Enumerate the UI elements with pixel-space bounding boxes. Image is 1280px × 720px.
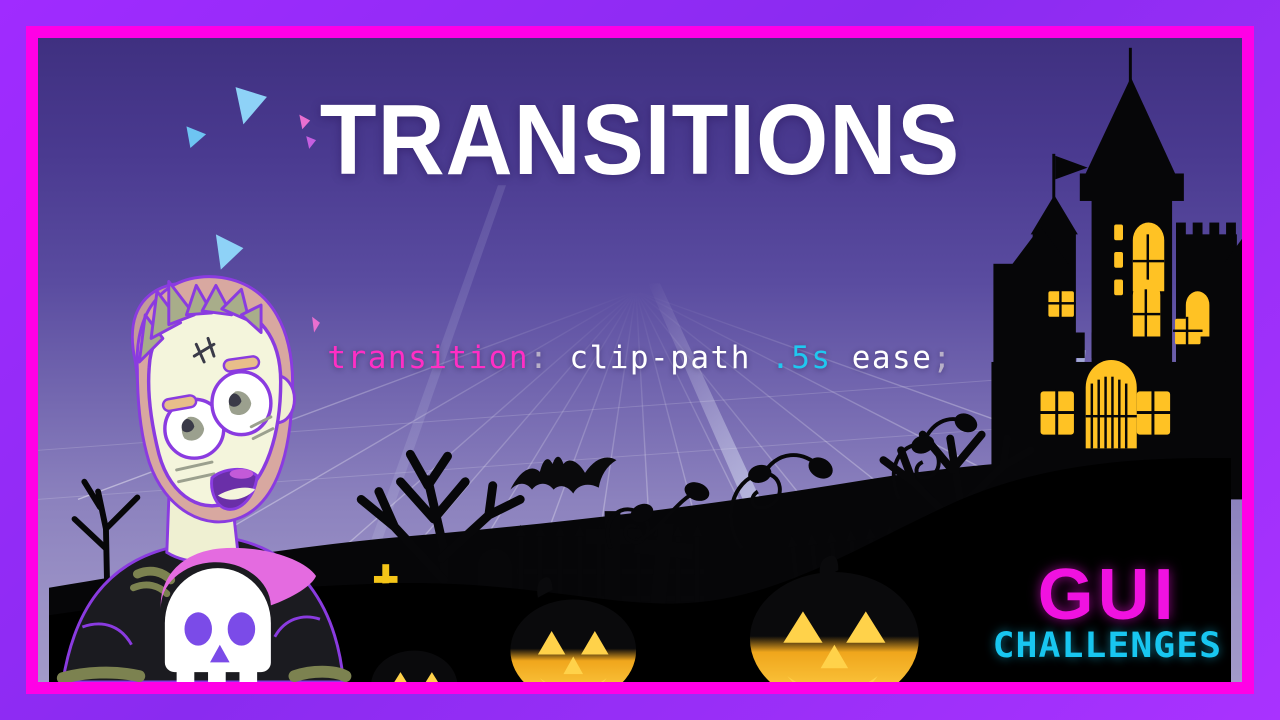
badge-primary-text: GUI bbox=[997, 561, 1218, 629]
halloween-scene: TRANSITIONS transition: clip-path .5s ea… bbox=[38, 38, 1242, 682]
code-snippet: transition: clip-path .5s ease; bbox=[38, 340, 1242, 376]
video-thumbnail: TRANSITIONS transition: clip-path .5s ea… bbox=[0, 0, 1280, 720]
css-property: transition bbox=[327, 340, 529, 376]
css-colon: : bbox=[529, 340, 549, 376]
avatar-head bbox=[132, 277, 294, 522]
css-duration: .5s bbox=[771, 340, 832, 376]
gui-challenges-badge: GUI CHALLENGES bbox=[997, 561, 1218, 664]
css-value: clip-path bbox=[569, 340, 750, 376]
css-easing: ease bbox=[852, 340, 933, 376]
badge-secondary-text: CHALLENGES bbox=[993, 629, 1223, 664]
neon-border-frame: TRANSITIONS transition: clip-path .5s ea… bbox=[26, 26, 1254, 694]
page-title: TRANSITIONS bbox=[80, 90, 1200, 190]
css-semicolon: ; bbox=[932, 340, 952, 376]
